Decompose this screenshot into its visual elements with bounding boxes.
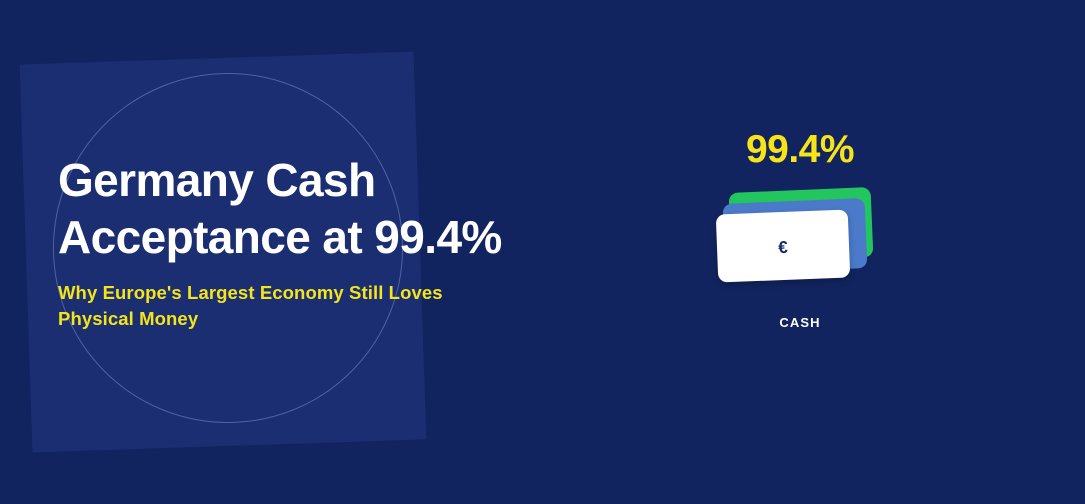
stat-block: 99.4% € CASH [690,128,910,330]
headline-block: Germany Cash Acceptance at 99.4% Why Eur… [58,152,618,332]
page-subtitle: Why Europe's Largest Economy Still Loves… [58,280,538,332]
slide-canvas: Germany Cash Acceptance at 99.4% Why Eur… [0,0,1085,504]
card-white-icon: € [716,209,851,282]
stat-label: CASH [690,315,910,330]
page-title: Germany Cash Acceptance at 99.4% [58,152,618,266]
euro-icon: € [778,238,788,255]
card-stack-icon: € [690,184,910,309]
stat-value: 99.4% [690,128,910,172]
